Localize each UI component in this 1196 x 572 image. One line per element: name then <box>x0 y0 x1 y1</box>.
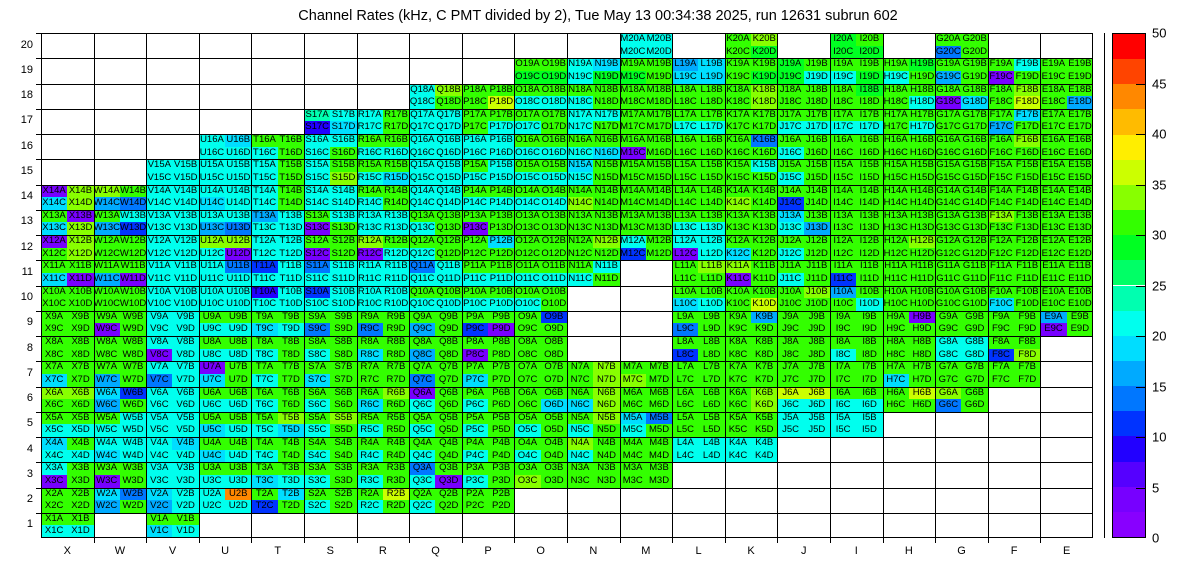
x-axis-tick-mark <box>672 538 673 543</box>
y-axis-tick-mark <box>36 260 41 261</box>
y-axis-tick-mark <box>36 159 41 160</box>
x-axis-tick-mark <box>988 538 989 543</box>
x-axis-tick-mark <box>199 538 200 543</box>
y-axis-tick-label: 20 <box>5 39 33 51</box>
x-axis-tick-mark <box>620 538 621 543</box>
y-axis-tick-mark <box>36 437 41 438</box>
x-axis-tick-mark <box>251 538 252 543</box>
y-axis-tick-label: 17 <box>5 114 33 126</box>
y-axis-tick-label: 8 <box>5 342 33 354</box>
colorbar-segment <box>1113 411 1145 436</box>
colorbar-segment <box>1113 84 1145 109</box>
x-axis-tick-label: H <box>883 545 935 557</box>
colorbar-segment <box>1113 135 1145 160</box>
colorbar-segment <box>1113 286 1145 311</box>
y-axis-tick-mark <box>36 412 41 413</box>
colorbar-tick-label: 40 <box>1152 127 1166 142</box>
x-axis-tick-label: R <box>357 545 409 557</box>
x-axis-tick-label: P <box>462 545 514 557</box>
y-axis-tick-label: 19 <box>5 64 33 76</box>
colorbar-segment <box>1113 462 1145 487</box>
y-axis-tick-mark <box>36 84 41 85</box>
x-axis-tick-label: M <box>620 545 672 557</box>
colorbar-segment <box>1113 436 1145 461</box>
y-axis-tick-label: 11 <box>5 266 33 278</box>
x-axis-tick-mark <box>1040 538 1041 543</box>
x-axis-tick-label: V <box>147 545 199 557</box>
y-axis-tick-mark <box>36 387 41 388</box>
y-axis-tick-mark <box>36 361 41 362</box>
y-axis-tick-label: 18 <box>5 89 33 101</box>
y-axis-tick-mark <box>36 336 41 337</box>
page-title: Channel Rates (kHz, C PMT divided by 2),… <box>0 8 1196 24</box>
x-axis-tick-label: E <box>1041 545 1093 557</box>
colorbar-segment <box>1113 487 1145 512</box>
colorbar-tick-label: 35 <box>1152 177 1166 192</box>
y-axis-tick-mark <box>36 210 41 211</box>
colorbar-tick-label: 0 <box>1152 531 1159 546</box>
colorbar-segment <box>1113 109 1145 134</box>
x-axis-tick-mark <box>357 538 358 543</box>
x-axis-tick-label: N <box>567 545 619 557</box>
x-axis-tick-label: J <box>778 545 830 557</box>
x-axis-tick-label: Q <box>410 545 462 557</box>
x-axis-tick-mark <box>514 538 515 543</box>
x-axis-tick-mark <box>883 538 884 543</box>
colorbar-tick-mark <box>1136 336 1146 337</box>
y-axis-tick-mark <box>36 235 41 236</box>
colorbar-segment <box>1113 34 1145 59</box>
x-axis-tick-label: W <box>94 545 146 557</box>
x-axis-tick-mark <box>146 538 147 543</box>
x-axis-tick-mark <box>304 538 305 543</box>
x-axis-tick-mark <box>462 538 463 543</box>
colorbar-segment <box>1113 160 1145 185</box>
x-axis-tick-label: O <box>515 545 567 557</box>
colorbar-tick-mark <box>1136 488 1146 489</box>
y-axis-tick-mark <box>36 185 41 186</box>
colorbar-segment <box>1113 260 1145 285</box>
y-axis-tick-label: 13 <box>5 215 33 227</box>
y-axis-tick-label: 16 <box>5 140 33 152</box>
colorbar-segment <box>1113 59 1145 84</box>
x-axis-tick-label: S <box>304 545 356 557</box>
colorbar-segment <box>1113 386 1145 411</box>
colorbar-tick-mark <box>1136 84 1146 85</box>
x-axis-tick-label: L <box>673 545 725 557</box>
colorbar-segment <box>1113 336 1145 361</box>
y-axis-tick-label: 12 <box>5 241 33 253</box>
x-axis-tick-label: G <box>936 545 988 557</box>
channel-rate-heatmap[interactable]: M20AM20BM20CM20DK20AK20BK20CK20DI20AI20B… <box>41 33 1093 538</box>
x-axis-tick-mark <box>777 538 778 543</box>
y-axis-tick-mark <box>36 462 41 463</box>
colorbar-tick-label: 5 <box>1152 480 1159 495</box>
y-axis-tick-mark <box>36 513 41 514</box>
colorbar-segment <box>1113 185 1145 210</box>
colorbar-tick-mark <box>1136 437 1146 438</box>
x-axis-tick-mark <box>567 538 568 543</box>
colorbar-segment <box>1113 210 1145 235</box>
x-axis-tick-label: K <box>725 545 777 557</box>
y-axis-tick-label: 2 <box>5 493 33 505</box>
x-axis-tick-label: U <box>199 545 251 557</box>
y-axis-tick-label: 6 <box>5 392 33 404</box>
colorbar-tick-mark <box>1136 235 1146 236</box>
y-axis-tick-label: 4 <box>5 443 33 455</box>
y-axis-tick-mark <box>36 33 41 34</box>
colorbar-tick-mark <box>1136 387 1146 388</box>
colorbar-tick-mark <box>1136 185 1146 186</box>
colorbar-segment <box>1113 311 1145 336</box>
y-axis-tick-label: 1 <box>5 518 33 530</box>
plot-frame <box>41 33 1093 538</box>
colorbar-tick-label: 30 <box>1152 228 1166 243</box>
x-axis-tick-mark <box>935 538 936 543</box>
colorbar-segment <box>1113 235 1145 260</box>
x-axis-tick-label: X <box>41 545 93 557</box>
y-axis-tick-label: 3 <box>5 468 33 480</box>
y-axis-tick-mark <box>36 311 41 312</box>
colorbar-segment <box>1113 361 1145 386</box>
colorbar-tick-label: 10 <box>1152 430 1166 445</box>
x-axis-tick-mark <box>409 538 410 543</box>
y-axis-tick-label: 7 <box>5 367 33 379</box>
y-axis-tick-label: 10 <box>5 291 33 303</box>
x-axis-tick-label: I <box>830 545 882 557</box>
y-axis-tick-label: 14 <box>5 190 33 202</box>
x-axis-tick-label: F <box>988 545 1040 557</box>
y-axis-tick-label: 15 <box>5 165 33 177</box>
colorbar-tick-mark <box>1136 286 1146 287</box>
x-axis-tick-mark <box>725 538 726 543</box>
colorbar-axis-line <box>1104 33 1105 538</box>
colorbar-tick-label: 20 <box>1152 329 1166 344</box>
y-axis-tick-label: 5 <box>5 417 33 429</box>
y-axis-tick-mark <box>36 134 41 135</box>
x-axis-tick-label: T <box>252 545 304 557</box>
y-axis-tick-mark <box>36 286 41 287</box>
colorbar-tick-mark <box>1136 134 1146 135</box>
y-axis-tick-mark <box>36 58 41 59</box>
colorbar-tick-label: 25 <box>1152 278 1166 293</box>
colorbar-tick-label: 45 <box>1152 76 1166 91</box>
colorbar-tick-label: 15 <box>1152 379 1166 394</box>
y-axis-tick-mark <box>36 109 41 110</box>
x-axis-tick-mark <box>94 538 95 543</box>
x-axis-tick-mark <box>830 538 831 543</box>
y-axis-tick-mark <box>36 488 41 489</box>
y-axis-tick-label: 9 <box>5 316 33 328</box>
colorbar-segment <box>1113 512 1145 537</box>
colorbar-tick-label: 50 <box>1152 26 1166 41</box>
